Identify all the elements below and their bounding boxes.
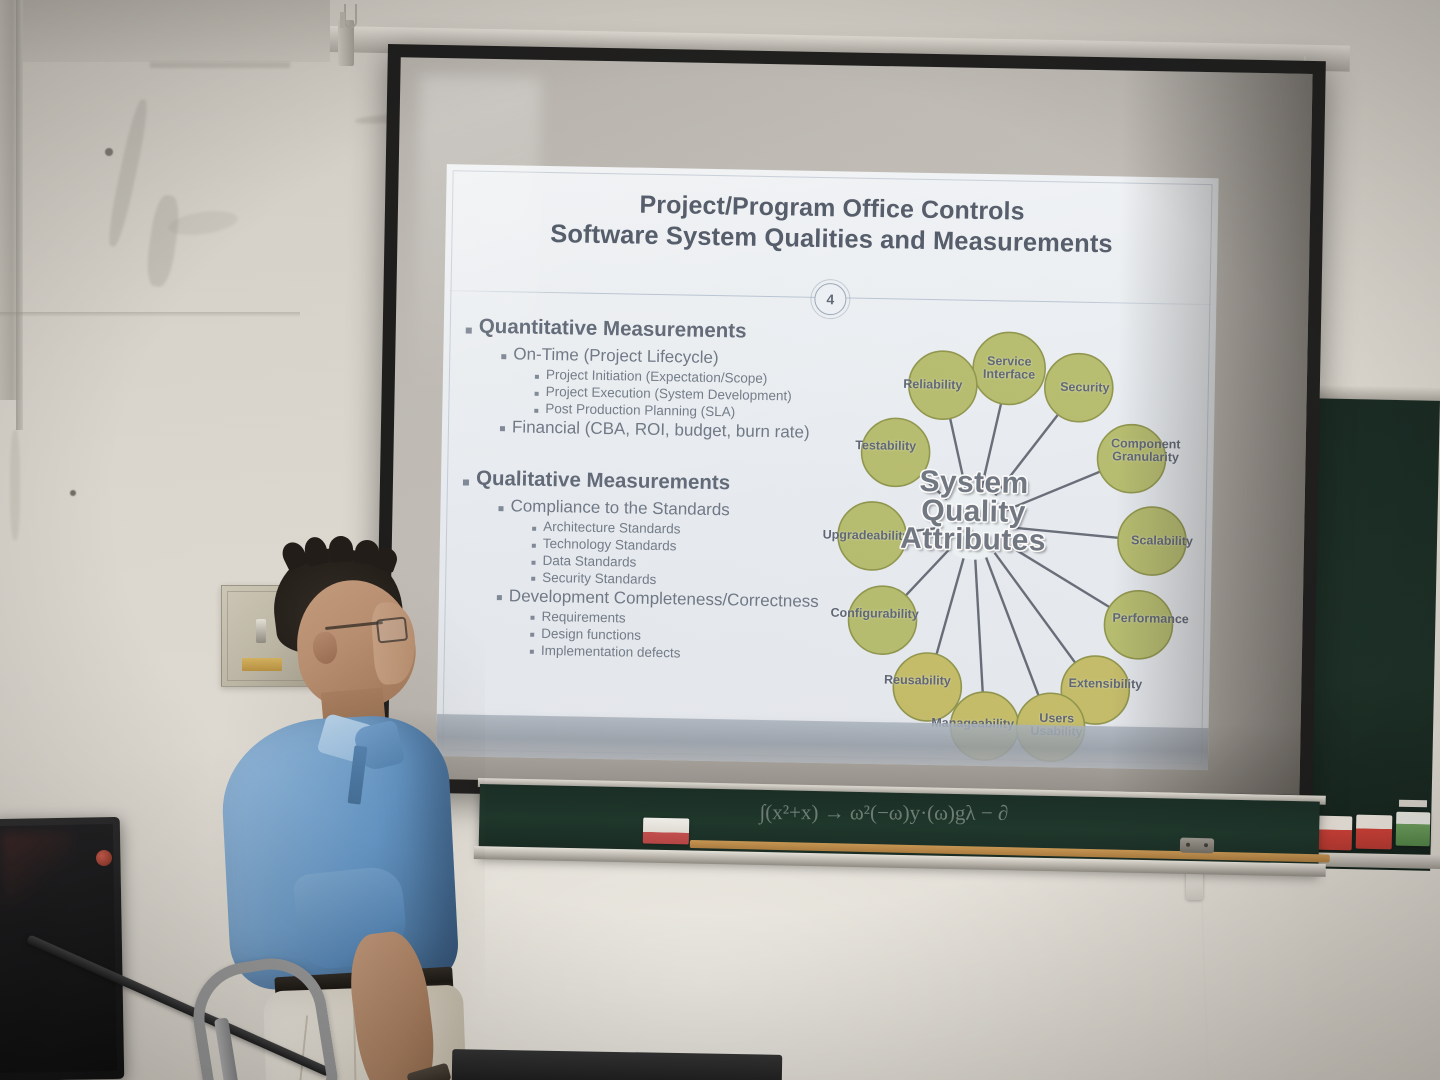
diagram-node-label-line: Configurability xyxy=(830,607,918,622)
diagram-node-label: Reusability xyxy=(884,674,951,688)
bullet-square-icon xyxy=(531,560,535,564)
bullet-level-2-label: Development Completeness/Correctness xyxy=(509,586,819,612)
diagram-node-label-line: Interface xyxy=(983,368,1035,382)
screen-surface: Project/Program Office Controls Software… xyxy=(388,57,1313,795)
bullet-square-icon xyxy=(501,354,506,359)
chalk-box[interactable] xyxy=(1356,815,1393,850)
wall-nail xyxy=(70,490,76,496)
wall-nail xyxy=(105,148,113,156)
diagram-node-label-line: Performance xyxy=(1112,612,1189,627)
bullet-square-icon xyxy=(531,577,535,581)
bullet-square-icon xyxy=(532,526,536,530)
slide-title: Project/Program Office Controls Software… xyxy=(445,186,1218,262)
diagram-node-label-line: Granularity xyxy=(1111,450,1181,464)
diagram-node-label: ComponentGranularity xyxy=(1111,437,1181,465)
bullet-level-3-label: Technology Standards xyxy=(543,536,677,554)
wall-seam xyxy=(0,312,300,317)
system-quality-attributes-diagram: System Quality Attributes ServiceInterfa… xyxy=(807,313,1214,720)
bullet-square-icon xyxy=(530,616,534,620)
bullet-level-3-label: Implementation defects xyxy=(541,643,681,661)
diagram-node-label-line: Upgradeability xyxy=(823,528,910,543)
diagram-node-label-line: Scalability xyxy=(1131,534,1193,548)
diagram-node-label-line: Extensibility xyxy=(1068,677,1142,691)
monitor-reflection xyxy=(2,832,73,903)
chair[interactable] xyxy=(196,960,376,1080)
diagram-center-label: System Quality Attributes xyxy=(900,468,1047,556)
bullet-square-icon xyxy=(535,374,539,378)
bullet-level-2-label: Compliance to the Standards xyxy=(510,497,730,521)
diagram-node-label: Reliability xyxy=(903,378,962,392)
bullet-level-2-label: Financial (CBA, ROI, budget, burn rate) xyxy=(512,417,810,442)
bullet-level-3-label: Architecture Standards xyxy=(543,519,681,537)
diagram-node-label: Performance xyxy=(1112,612,1189,627)
chalk-box[interactable] xyxy=(1396,812,1431,847)
bullet-square-icon xyxy=(532,543,536,547)
chalk-writing: ∫(x²+x) → ω²(−ω)y·(ω)gλ − ∂ xyxy=(759,800,1008,826)
bullet-square-icon xyxy=(534,408,538,412)
diagram-node-label-line: Security xyxy=(1060,381,1110,395)
bullet-square-icon xyxy=(530,633,534,637)
chalk-box-lid xyxy=(1399,800,1427,808)
classroom-photo: Project/Program Office Controls Software… xyxy=(0,0,1440,1080)
bullet-square-icon xyxy=(498,506,503,511)
wall-stain xyxy=(150,62,290,68)
ceiling-hook-icon xyxy=(344,4,357,28)
center-line-3: Attributes xyxy=(900,525,1046,556)
pointer-stick-clip xyxy=(1180,838,1214,854)
bullet-square-icon xyxy=(500,426,505,431)
bullet-level-3-label: Data Standards xyxy=(542,553,636,571)
bullet-level-3-label: Design functions xyxy=(541,626,641,644)
diagram-node-label: Extensibility xyxy=(1068,677,1142,691)
diagram-connector xyxy=(937,556,965,655)
diagram-node-label-line: Reliability xyxy=(903,378,962,392)
diagram-node-label-line: Reusability xyxy=(884,674,951,688)
bullet-square-icon xyxy=(535,391,539,395)
bullet-square-icon xyxy=(530,650,534,654)
diagram-node-label: Testability xyxy=(855,439,916,453)
wall-left-edge-shadow xyxy=(16,0,23,430)
diagram-connector xyxy=(973,558,985,692)
microphone-tip xyxy=(96,850,112,866)
presentation-slide: Project/Program Office Controls Software… xyxy=(436,164,1219,770)
diagram-node-label: Configurability xyxy=(830,607,918,622)
presenter-hair xyxy=(328,535,354,563)
chalk-box[interactable] xyxy=(1316,816,1353,851)
bullet-level-3-label: Requirements xyxy=(541,609,625,626)
bullet-level-1-label: Quantitative Measurements xyxy=(479,315,747,344)
ceiling-bracket xyxy=(340,12,345,28)
diagram-node-label: ServiceInterface xyxy=(983,355,1036,382)
wall-stain xyxy=(10,430,20,540)
projection-screen: Project/Program Office Controls Software… xyxy=(374,44,1326,809)
diagram-node-label: Scalability xyxy=(1131,534,1193,548)
ceiling-soffit xyxy=(0,0,330,62)
diagram-node-label: Upgradeability xyxy=(823,528,910,543)
bullet-level-2-label: On-Time (Project Lifecycle) xyxy=(513,345,719,369)
chair-backrest xyxy=(185,950,340,1080)
blackboard-eraser[interactable] xyxy=(643,818,690,845)
bullet-square-icon xyxy=(466,327,472,333)
glasses-icon xyxy=(376,616,408,643)
bullet-level-1-label: Qualitative Measurements xyxy=(476,467,730,496)
bullet-level-3-label: Security Standards xyxy=(542,570,656,588)
diagram-node-label: Security xyxy=(1060,381,1110,395)
diagram-node-label-line: Testability xyxy=(855,439,916,453)
desk-edge xyxy=(452,1049,783,1080)
bullet-square-icon xyxy=(463,479,469,485)
